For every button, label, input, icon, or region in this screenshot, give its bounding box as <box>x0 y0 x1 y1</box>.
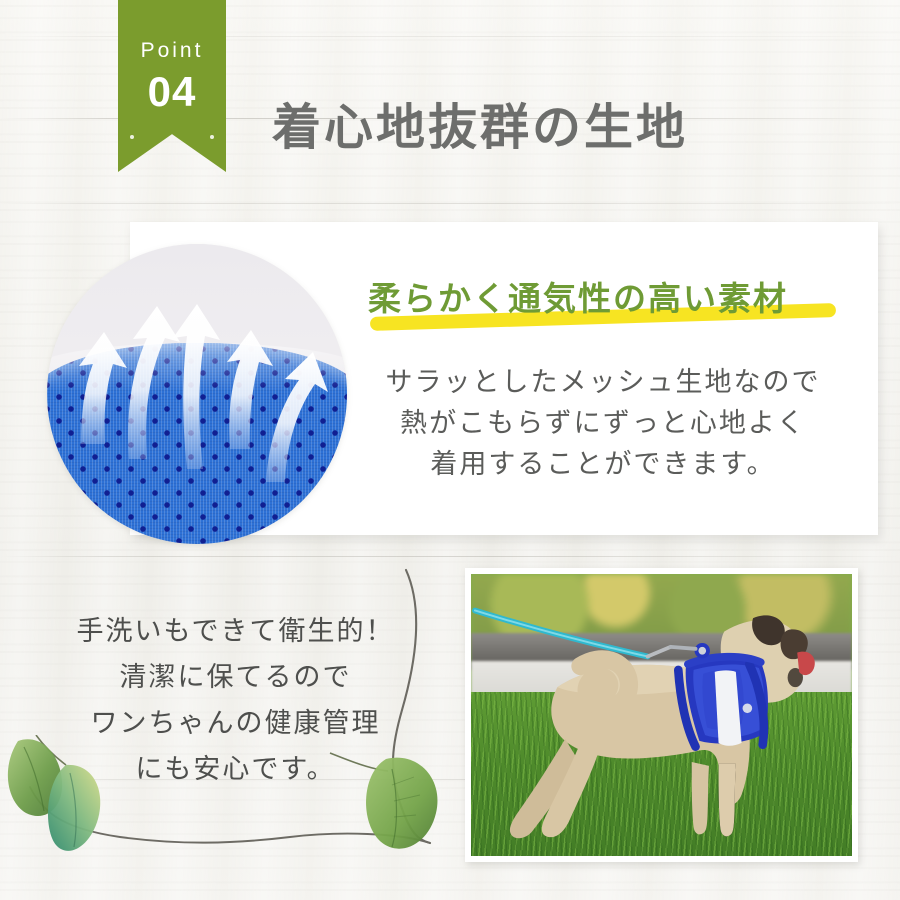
leaf-shape <box>366 758 437 849</box>
pug-illustration <box>471 574 852 856</box>
mesh-fabric-circle-image <box>47 244 347 544</box>
card-body-text: サラッとしたメッシュ生地なので 熱がこもらずにずっと心地よく 着用することができ… <box>368 362 838 485</box>
product-photo-frame <box>465 568 858 862</box>
ribbon-dot-right-icon <box>210 135 214 139</box>
ribbon-point-label: Point <box>141 40 204 61</box>
page-title: 着心地抜群の生地 <box>272 88 688 159</box>
airflow-arrows-icon <box>47 244 347 544</box>
card-subheading: 柔らかく通気性の高い素材 <box>368 272 838 320</box>
card-body-line: 熱がこもらずにずっと心地よく <box>368 403 838 444</box>
card-body-line: サラッとしたメッシュ生地なので <box>368 362 838 403</box>
plank-seam <box>0 203 900 204</box>
card-subheading-group: 柔らかく通気性の高い素材 <box>368 272 838 334</box>
watercolor-leaf-branch <box>0 735 460 900</box>
product-feature-page: Point 04 着心地抜群の生地 <box>0 0 900 900</box>
ribbon-point-number: 04 <box>148 71 197 113</box>
ribbon-dot-left-icon <box>130 135 134 139</box>
pug-photo <box>471 574 852 856</box>
card-body-line: 着用することができます。 <box>368 444 838 485</box>
